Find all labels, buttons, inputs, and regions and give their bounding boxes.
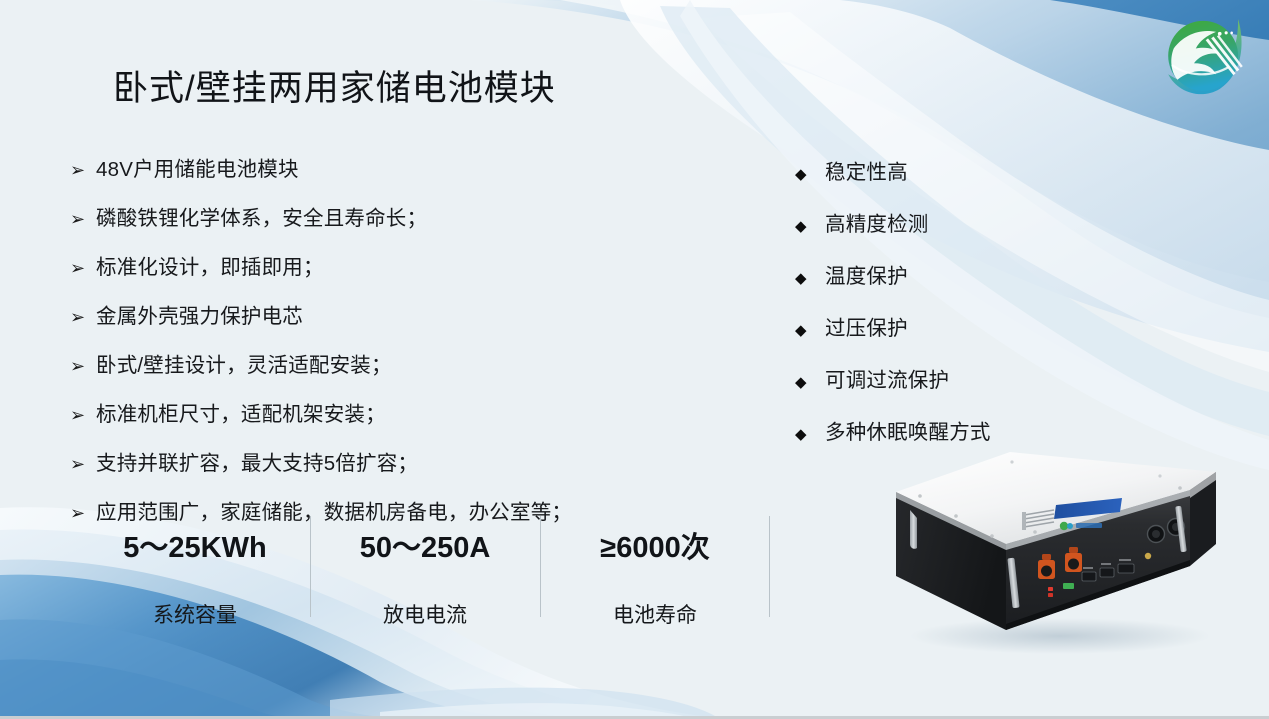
list-item: ◆ 过压保护 bbox=[795, 311, 1125, 341]
list-item: ◆ 温度保护 bbox=[795, 259, 1125, 289]
battery-module-photo bbox=[860, 440, 1250, 665]
feature-list-right: ◆ 稳定性高 ◆ 高精度检测 ◆ 温度保护 ◆ 过压保护 ◆ 可调过流保护 ◆ … bbox=[795, 155, 1125, 467]
list-item: ➢ 金属外壳强力保护电芯 bbox=[70, 299, 720, 329]
arrow-bullet-icon: ➢ bbox=[70, 211, 96, 229]
list-item-label: 过压保护 bbox=[825, 311, 908, 341]
arrow-bullet-icon: ➢ bbox=[70, 309, 96, 327]
spec-value: 50〜250A bbox=[360, 524, 491, 566]
slide-root: 卧式/壁挂两用家储电池模块 ➢ 48V户用储能电池模块 ➢ 磷酸铁锂化学体系，安… bbox=[0, 0, 1269, 719]
list-item-label: 标准化设计，即插即用； bbox=[96, 250, 324, 280]
diamond-bullet-icon: ◆ bbox=[795, 427, 825, 442]
diamond-bullet-icon: ◆ bbox=[795, 271, 825, 286]
list-item: ➢ 标准化设计，即插即用； bbox=[70, 250, 720, 280]
spec-capacity: 5〜25KWh 系统容量 bbox=[80, 514, 310, 619]
spec-label: 放电电流 bbox=[383, 599, 467, 629]
arrow-bullet-icon: ➢ bbox=[70, 407, 96, 425]
list-item: ➢ 支持并联扩容，最大支持5倍扩容； bbox=[70, 446, 720, 476]
list-item: ◆ 可调过流保护 bbox=[795, 363, 1125, 393]
arrow-bullet-icon: ➢ bbox=[70, 456, 96, 474]
list-item: ➢ 卧式/壁挂设计，灵活适配安装； bbox=[70, 348, 720, 378]
list-item-label: 标准机柜尺寸，适配机架安装； bbox=[96, 397, 386, 427]
list-item-label: 温度保护 bbox=[825, 259, 908, 289]
spec-label: 系统容量 bbox=[153, 599, 237, 629]
diamond-bullet-icon: ◆ bbox=[795, 375, 825, 390]
page-title: 卧式/壁挂两用家储电池模块 bbox=[113, 60, 556, 111]
list-item-label: 48V户用储能电池模块 bbox=[96, 152, 299, 182]
list-item: ➢ 磷酸铁锂化学体系，安全且寿命长； bbox=[70, 201, 720, 231]
list-item-label: 可调过流保护 bbox=[825, 363, 949, 393]
arrow-bullet-icon: ➢ bbox=[70, 260, 96, 278]
arrow-bullet-icon: ➢ bbox=[70, 162, 96, 180]
spec-value: ≥6000次 bbox=[600, 524, 709, 566]
feature-list-left: ➢ 48V户用储能电池模块 ➢ 磷酸铁锂化学体系，安全且寿命长； ➢ 标准化设计… bbox=[70, 152, 720, 544]
list-item: ➢ 标准机柜尺寸，适配机架安装； bbox=[70, 397, 720, 427]
list-item: ◆ 高精度检测 bbox=[795, 207, 1125, 237]
spec-label: 电池寿命 bbox=[613, 599, 697, 629]
spec-current: 50〜250A 放电电流 bbox=[310, 514, 540, 619]
spec-value: 5〜25KWh bbox=[123, 524, 266, 566]
list-item-label: 支持并联扩容，最大支持5倍扩容； bbox=[96, 446, 418, 476]
list-item-label: 磷酸铁锂化学体系，安全且寿命长； bbox=[96, 201, 427, 231]
list-item-label: 卧式/壁挂设计，灵活适配安装； bbox=[96, 348, 392, 378]
list-item: ◆ 稳定性高 bbox=[795, 155, 1125, 185]
list-item-label: 金属外壳强力保护电芯 bbox=[96, 299, 303, 329]
diamond-bullet-icon: ◆ bbox=[795, 219, 825, 234]
spec-highlights: 5〜25KWh 系统容量 50〜250A 放电电流 ≥6000次 电池寿命 bbox=[80, 514, 770, 619]
diamond-bullet-icon: ◆ bbox=[795, 323, 825, 338]
list-item: ➢ 48V户用储能电池模块 bbox=[70, 152, 720, 182]
company-logo bbox=[1159, 8, 1251, 100]
spec-cycle-life: ≥6000次 电池寿命 bbox=[540, 514, 770, 619]
list-item-label: 稳定性高 bbox=[825, 155, 908, 185]
diamond-bullet-icon: ◆ bbox=[795, 167, 825, 182]
arrow-bullet-icon: ➢ bbox=[70, 358, 96, 376]
list-item-label: 高精度检测 bbox=[825, 207, 929, 237]
